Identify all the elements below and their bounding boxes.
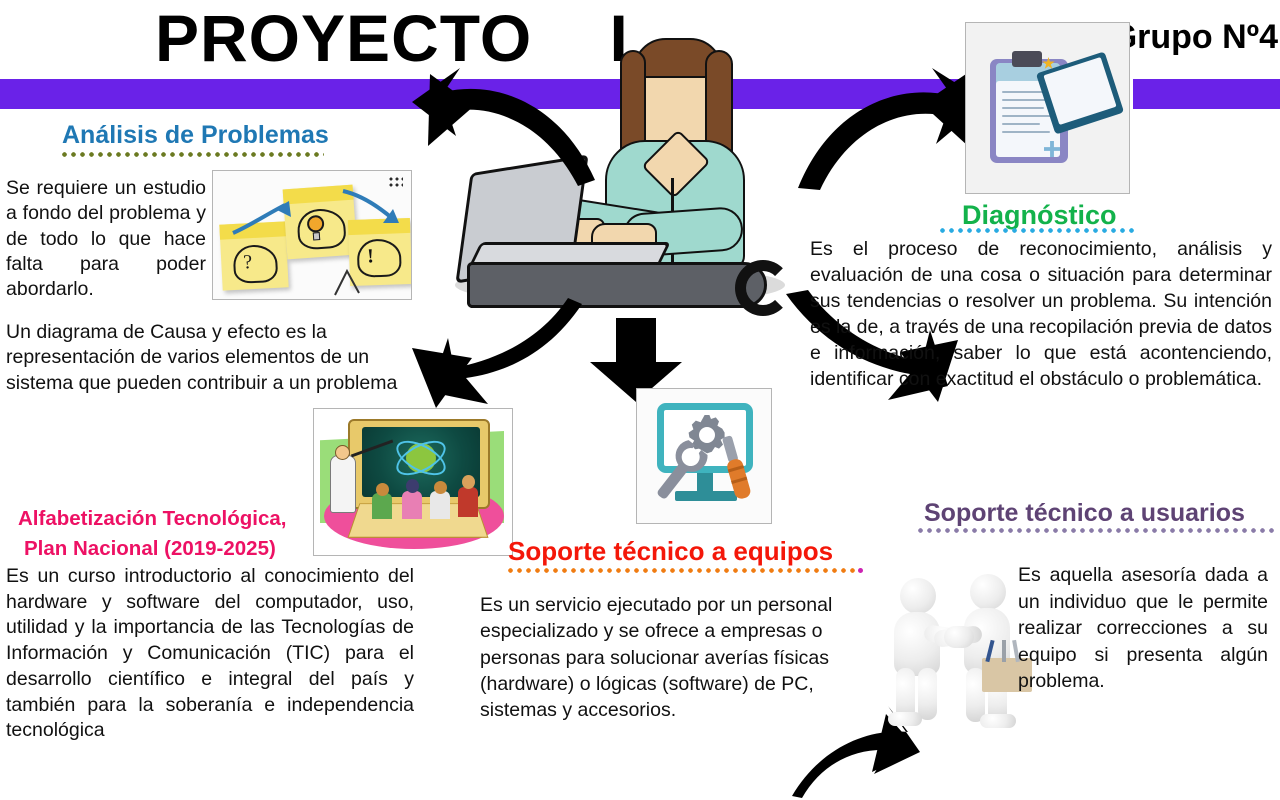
head-outline-question <box>232 244 278 284</box>
decorative-dots <box>389 177 403 189</box>
toolbox-tool-wrench <box>1002 640 1006 662</box>
student-head <box>376 483 389 496</box>
figure-right-foot <box>980 714 1016 728</box>
heading-soporte-usuarios: Soporte técnico a usuarios <box>924 500 1245 526</box>
paper-line <box>1002 115 1052 117</box>
figure-left-foot <box>888 712 922 726</box>
student-figure <box>372 493 392 519</box>
heading-diagnostico: Diagnóstico <box>962 201 1117 229</box>
body-analisis-part1: Se requiere un estudio a fondo del probl… <box>6 176 206 303</box>
blue-arrow-2 <box>341 185 403 229</box>
student-figure <box>402 491 422 519</box>
screwdriver-icon <box>715 431 759 507</box>
exclamation-glyph: ! <box>367 245 374 268</box>
body-soporte-usuarios: Es aquella asesoría dada a un individuo … <box>1018 562 1268 695</box>
sticky-notes-ideas-image: ? ! <box>212 170 412 300</box>
classroom-computer-image <box>313 408 513 556</box>
heading-alfabetizacion-line2: Plan Nacional (2019-2025) <box>24 538 276 560</box>
dotted-underline-analisis <box>62 152 324 157</box>
dotted-underline-soporte-equipos <box>508 568 858 573</box>
blue-arrow-1 <box>231 199 293 239</box>
dotted-underline-soporte-usuarios <box>918 528 1274 533</box>
figure-left-leg <box>918 668 937 720</box>
body-analisis-part2: Un diagrama de Causa y efecto es la repr… <box>6 320 408 396</box>
heading-soporte-equipos: Soporte técnico a equipos <box>508 538 833 565</box>
figure-left-head <box>900 578 936 614</box>
heading-alfabetizacion-line1: Alfabetización Tecnológica, <box>18 508 286 530</box>
question-mark-glyph: ? <box>243 251 253 274</box>
monitor-gear-tools-image <box>636 388 772 524</box>
arrow-down-left <box>400 296 590 426</box>
wrench-icon <box>649 437 709 507</box>
clipboard-document-image <box>965 22 1130 194</box>
dotted-underline-diagnostico <box>940 228 1138 233</box>
paper-line <box>1002 107 1044 109</box>
handshake-hands <box>944 626 974 648</box>
handshake-toolbox-image <box>862 556 1042 738</box>
clipboard-clip <box>1012 51 1042 67</box>
body-diagnostico: Es el proceso de reconocimiento, análisi… <box>810 237 1272 393</box>
arrow-up-left <box>410 62 610 202</box>
infographic-slide: PROYECTO I Grupo Nº4 <box>0 0 1280 800</box>
teacher-figure <box>330 455 356 513</box>
group-label: Grupo Nº4 <box>1111 20 1278 54</box>
teacher-head <box>335 445 350 460</box>
student-figure <box>458 487 478 517</box>
heading-analisis-de-problemas: Análisis de Problemas <box>62 122 329 148</box>
lightbulb-base <box>313 232 321 240</box>
figure-left-body <box>894 612 940 676</box>
figure-right-head <box>970 574 1006 610</box>
purple-banner-right <box>1133 79 1280 109</box>
body-alfabetizacion: Es un curso introductorio al conocimient… <box>6 564 414 744</box>
arrow-up-right <box>790 60 990 210</box>
student-figure <box>430 491 450 519</box>
pencil-tip-sketch <box>331 267 365 297</box>
paper-line <box>1002 131 1050 133</box>
student-head <box>434 481 447 494</box>
student-head <box>462 475 475 489</box>
body-soporte-equipos: Es un servicio ejecutado por un personal… <box>480 592 870 724</box>
student-head <box>406 479 419 493</box>
paper-line <box>1002 123 1040 125</box>
